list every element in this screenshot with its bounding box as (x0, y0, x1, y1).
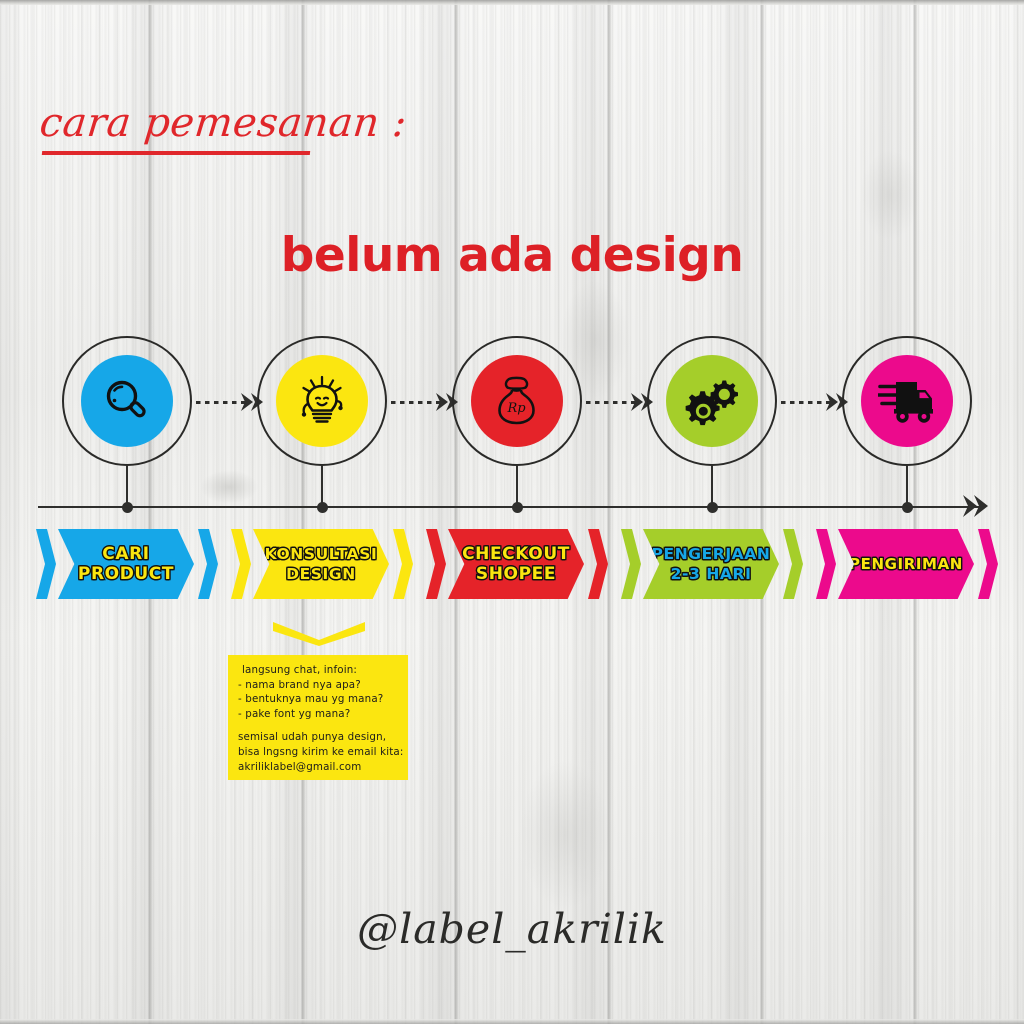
step-4-banner-label: PENGERJAAN 2-3 HARI (652, 544, 771, 584)
step-4-label-line1: PENGERJAAN (652, 544, 771, 564)
step-5-banner[interactable]: PENGIRIMAN (816, 529, 998, 599)
note-line-4: - pake font yg mana? (238, 707, 404, 722)
page-title-underline (42, 151, 310, 155)
timeline-node-2 (317, 502, 328, 513)
timeline-axis (38, 506, 980, 508)
step-1-banner[interactable]: CARI PRODUCT (36, 529, 218, 599)
step-1-icon-disc[interactable] (81, 355, 173, 447)
step-4-banner-body: PENGERJAAN 2-3 HARI (643, 529, 779, 599)
step-3-banner-label: CHECKOUT SHOPEE (462, 544, 570, 584)
note-text: langsung chat, infoin: - nama brand nya … (238, 663, 404, 774)
step-3-banner[interactable]: CHECKOUT SHOPEE (426, 529, 608, 599)
step-1-banner-label: CARI PRODUCT (78, 544, 174, 584)
timeline-arrowhead (962, 492, 992, 525)
step-2-banner-body: KONSULTASI DESIGN (253, 529, 389, 599)
step-5-banner-tail-chevron (978, 529, 998, 599)
step-5-label-line1: PENGIRIMAN (849, 554, 963, 574)
step-1-label-line2: PRODUCT (78, 564, 174, 584)
step-2-label-line2: DESIGN (265, 564, 378, 584)
note-caret-icon (271, 620, 367, 651)
step-4-label-line2: 2-3 HARI (652, 564, 771, 584)
step-4-banner-lead-chevron (621, 529, 641, 599)
magnifier-icon (101, 375, 153, 427)
step-4-banner-tail-chevron (783, 529, 803, 599)
step-2-label-line1: KONSULTASI (265, 544, 378, 564)
background-top-edge (0, 0, 1024, 5)
step-1-banner-body: CARI PRODUCT (58, 529, 194, 599)
step-1-banner-tail-chevron (198, 529, 218, 599)
gears-icon (684, 374, 740, 428)
note-spacer (238, 721, 404, 730)
step-3-label-line2: SHOPEE (462, 564, 570, 584)
money-bag-currency-symbol: Rp (506, 401, 526, 416)
step-5-icon-disc[interactable] (861, 355, 953, 447)
step-4-banner[interactable]: PENGERJAAN 2-3 HARI (621, 529, 803, 599)
timeline-node-1 (122, 502, 133, 513)
page-title-script: cara pemesanan : (38, 100, 410, 146)
step-2-banner[interactable]: KONSULTASI DESIGN (231, 529, 413, 599)
background-bottom-edge (0, 1019, 1024, 1024)
step-3-icon-disc[interactable]: Rp (471, 355, 563, 447)
step-5-banner-label: PENGIRIMAN (849, 554, 963, 574)
timeline-node-4 (707, 502, 718, 513)
step-3-banner-lead-chevron (426, 529, 446, 599)
lightbulb-idea-icon (295, 374, 349, 428)
step-2-banner-label: KONSULTASI DESIGN (265, 544, 378, 584)
step-4-icon-disc[interactable] (666, 355, 758, 447)
step-3-banner-body: CHECKOUT SHOPEE (448, 529, 584, 599)
step-5-banner-body: PENGIRIMAN (838, 529, 974, 599)
headline: belum ada design (0, 228, 1024, 283)
timeline-node-3 (512, 502, 523, 513)
note-line-5: semisal udah punya design, (238, 730, 404, 745)
delivery-truck-icon (878, 378, 936, 424)
infographic-canvas: cara pemesanan : belum ada design (0, 0, 1024, 1024)
step-3-banner-tail-chevron (588, 529, 608, 599)
step-3-label-line1: CHECKOUT (462, 544, 570, 564)
note-line-7: akriliklabel@gmail.com (238, 760, 404, 775)
step-1-banner-lead-chevron (36, 529, 56, 599)
note-line-3: - bentuknya mau yg mana? (238, 692, 404, 707)
money-bag-icon: Rp (490, 374, 544, 428)
step-5-banner-lead-chevron (816, 529, 836, 599)
note-line-6: bisa lngsng kirim ke email kita: (238, 745, 404, 760)
account-handle: @label_akrilik (0, 905, 1024, 953)
step-2-icon-disc[interactable] (276, 355, 368, 447)
step-1-label-line1: CARI (78, 544, 174, 564)
step-2-banner-lead-chevron (231, 529, 251, 599)
timeline-node-5 (902, 502, 913, 513)
note-line-1: langsung chat, infoin: (238, 663, 404, 678)
step-2-banner-tail-chevron (393, 529, 413, 599)
note-line-2: - nama brand nya apa? (238, 678, 404, 693)
